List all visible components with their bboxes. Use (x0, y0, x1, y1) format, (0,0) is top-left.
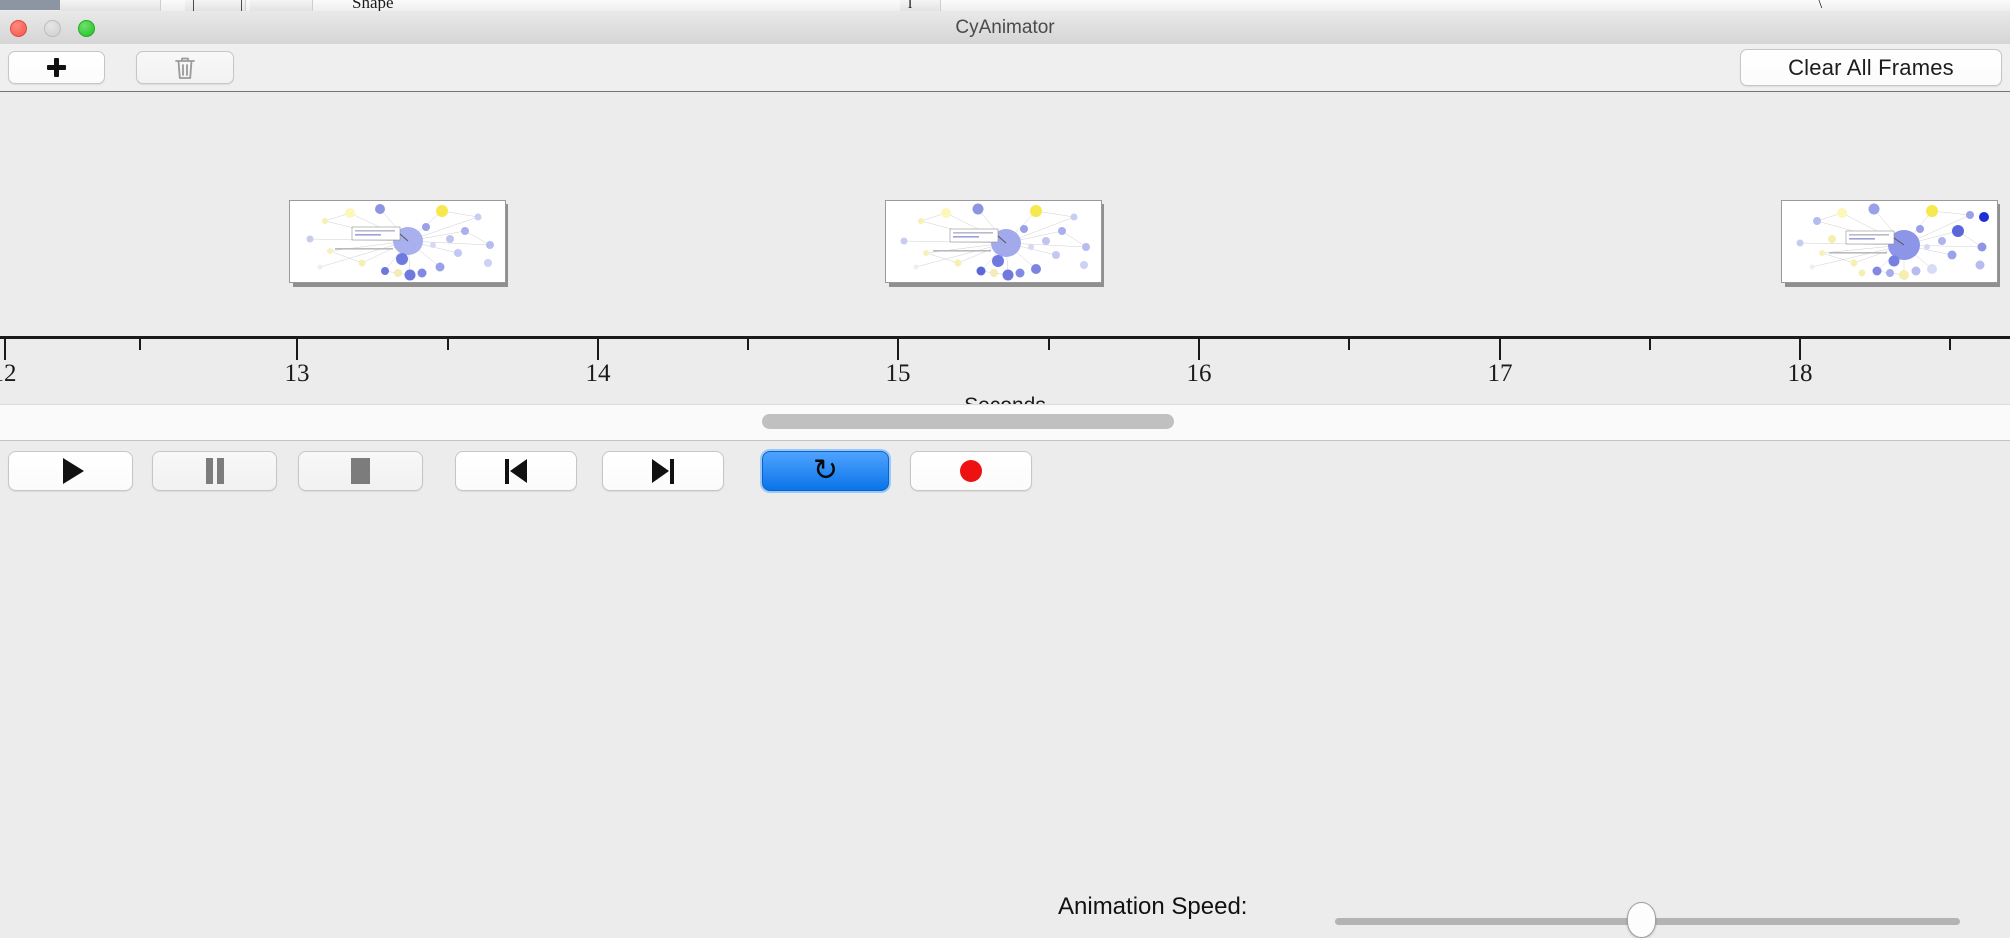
axis-label-18: 18 (1788, 360, 1813, 388)
axis-tick-major (1499, 339, 1501, 360)
loop-button[interactable]: ↻ (762, 451, 889, 491)
network-thumbnail-image (290, 201, 505, 282)
pause-button[interactable] (152, 451, 277, 491)
window-titlebar[interactable]: CyAnimator (0, 11, 2010, 45)
background-tab (60, 0, 161, 11)
play-button[interactable] (8, 451, 133, 491)
pause-icon (205, 458, 225, 484)
playback-toolbar: ↻ Animation Speed: (0, 440, 2010, 511)
delete-frame-button[interactable] (136, 51, 234, 84)
animation-speed-slider-thumb[interactable] (1627, 902, 1656, 938)
timeline-frame-3[interactable] (1781, 200, 2000, 285)
plus-icon (47, 58, 66, 77)
network-thumbnail-image (886, 201, 1101, 282)
frame-thumbnail (1781, 200, 1998, 283)
stop-icon (351, 458, 370, 484)
loop-icon: ↻ (813, 456, 838, 486)
skip-forward-icon (652, 459, 674, 484)
axis-tick-major (1198, 339, 1200, 360)
stop-button[interactable] (298, 451, 423, 491)
timeline-frame-1[interactable] (289, 200, 508, 285)
frame-thumbnail (289, 200, 506, 283)
play-icon (63, 458, 84, 484)
axis-label-13: 13 (285, 360, 310, 388)
axis-tick-major (296, 339, 298, 360)
background-tab (250, 0, 313, 11)
timeline-scrollbar[interactable] (0, 404, 2010, 441)
cyanimator-window: | | l \ Shape CyAnimator Clear All Frame… (0, 0, 2010, 510)
axis-tick-minor (1048, 339, 1050, 350)
axis-label-16: 16 (1187, 360, 1212, 388)
frame-thumbnail (885, 200, 1102, 283)
axis-tick-minor (447, 339, 449, 350)
axis-label-17: 17 (1488, 360, 1513, 388)
animation-speed-slider[interactable] (1335, 918, 1960, 925)
scrollbar-thumb[interactable] (762, 414, 1174, 429)
background-tab (900, 0, 941, 11)
axis-tick-major (597, 339, 599, 360)
background-window-titlebar (0, 0, 60, 10)
window-title: CyAnimator (0, 11, 2010, 44)
record-icon (960, 460, 982, 482)
axis-tick-minor (1348, 339, 1350, 350)
axis-tick-minor (1949, 339, 1951, 350)
timeline-axis-line (0, 336, 2010, 339)
timeline-frame-2[interactable] (885, 200, 1104, 285)
axis-tick-minor (139, 339, 141, 350)
frame-toolbar: Clear All Frames (0, 44, 2010, 93)
axis-title: Seconds (0, 394, 2010, 404)
axis-tick-minor (747, 339, 749, 350)
trash-icon (173, 55, 197, 81)
axis-tick-major (4, 339, 6, 360)
axis-label-15: 15 (886, 360, 911, 388)
axis-tick-major (1799, 339, 1801, 360)
clear-all-frames-button[interactable]: Clear All Frames (1740, 49, 2002, 86)
axis-label-12: 12 (0, 360, 17, 388)
step-forward-button[interactable] (602, 451, 724, 491)
animation-speed-label: Animation Speed: (1058, 893, 1247, 921)
skip-back-icon (505, 459, 527, 484)
network-thumbnail-image (1782, 201, 1997, 282)
record-button[interactable] (910, 451, 1032, 491)
add-frame-button[interactable] (8, 51, 105, 84)
step-back-button[interactable] (455, 451, 577, 491)
axis-tick-major (897, 339, 899, 360)
axis-label-14: 14 (586, 360, 611, 388)
axis-tick-minor (1649, 339, 1651, 350)
timeline-panel[interactable]: 12 13 14 15 16 17 18 Seconds (0, 92, 2010, 404)
